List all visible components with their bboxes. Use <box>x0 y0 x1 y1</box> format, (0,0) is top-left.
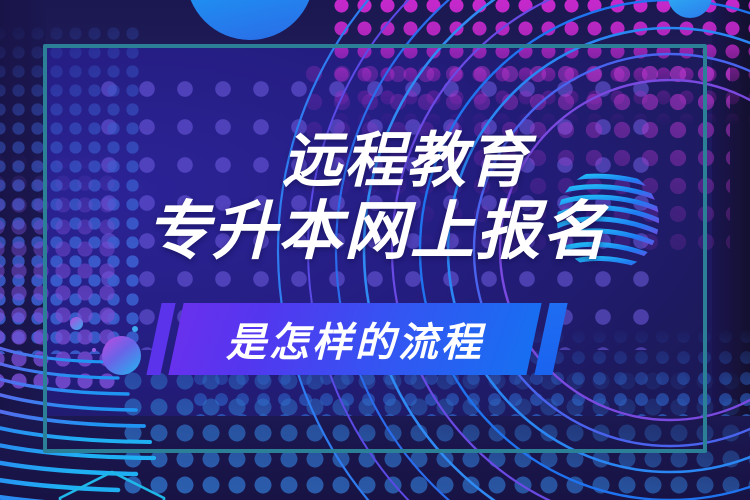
subtitle-text: 是怎样的流程 <box>176 303 534 375</box>
promo-banner: 远程教育 专升本网上报名 是怎样的流程 <box>0 0 750 500</box>
decorative-frame-border <box>43 44 707 453</box>
subtitle-banner: 是怎样的流程 <box>150 303 610 375</box>
pentagon-outline-icon <box>52 470 172 500</box>
